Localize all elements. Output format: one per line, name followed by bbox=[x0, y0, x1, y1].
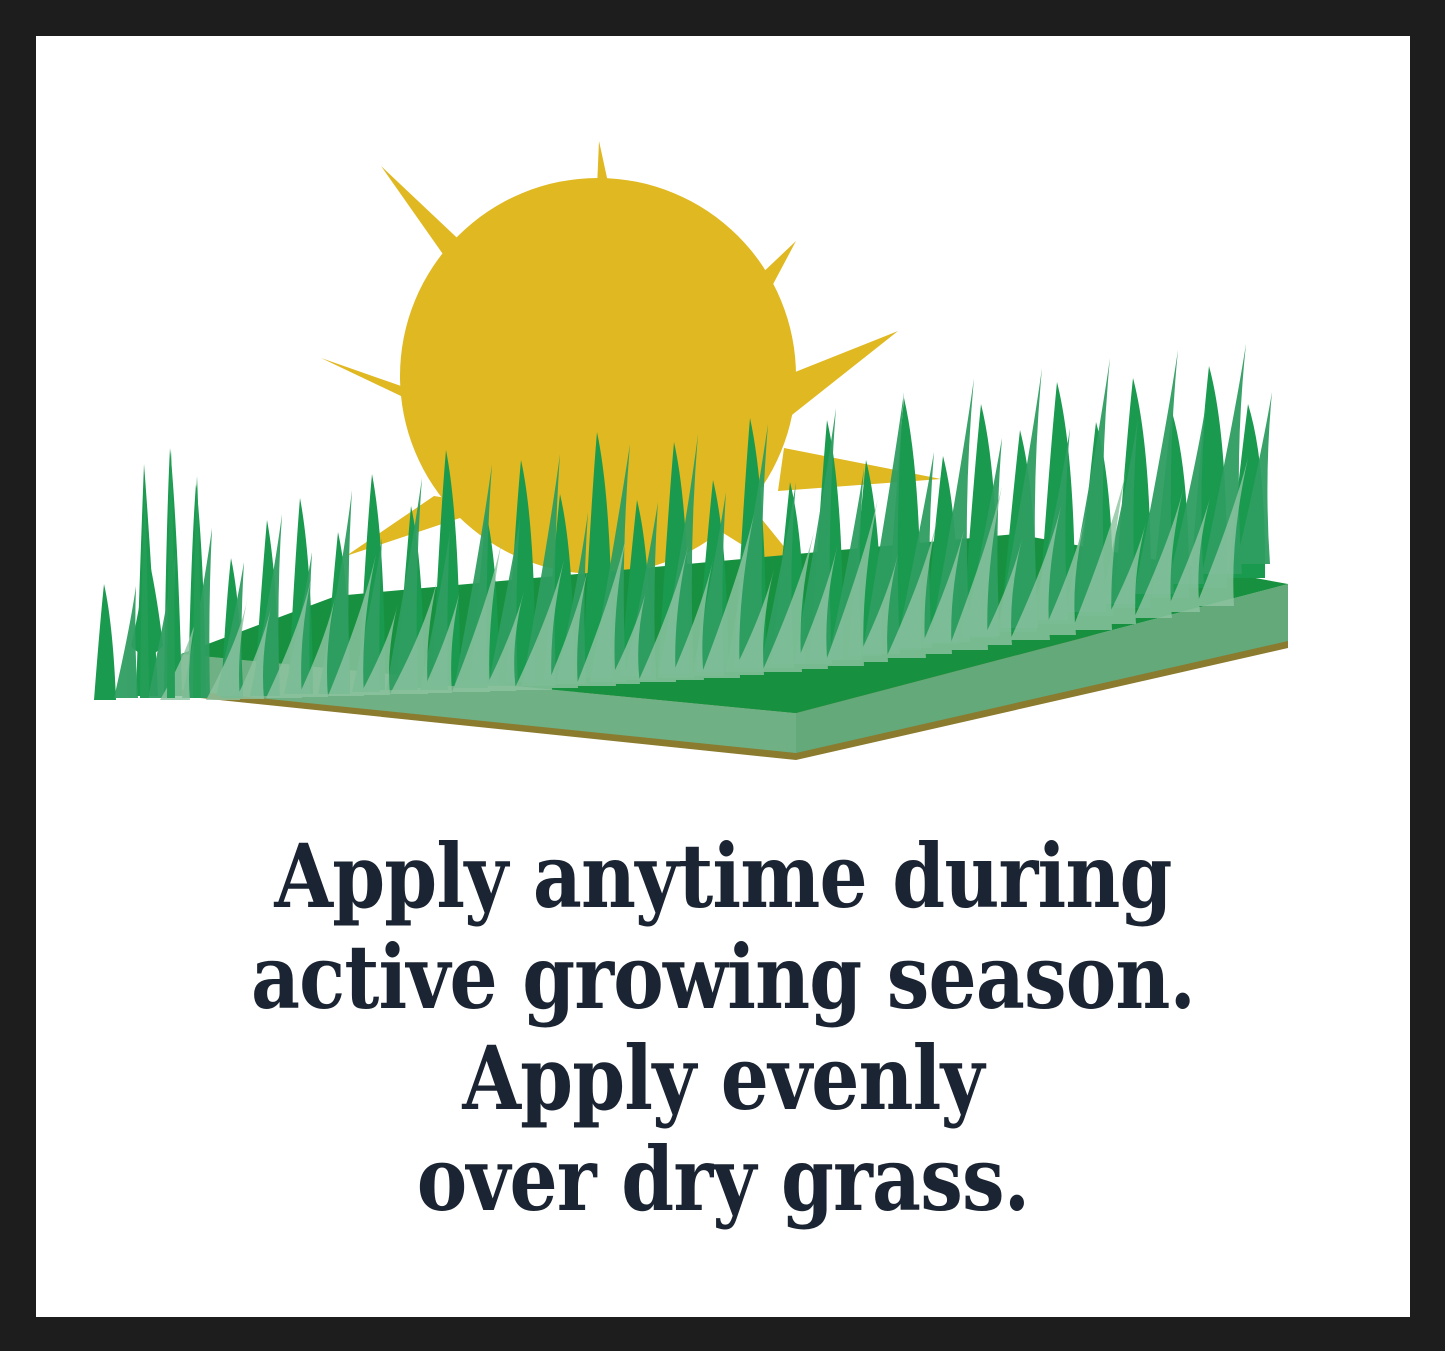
poster-frame: Apply anytime during active growing seas… bbox=[0, 0, 1445, 1351]
poster-content-area: Apply anytime during active growing seas… bbox=[36, 36, 1410, 1317]
caption-line-2: active growing season. bbox=[132, 927, 1314, 1028]
illustration-sun-over-grass bbox=[36, 36, 1410, 796]
illustration-svg bbox=[36, 36, 1410, 796]
caption-line-1: Apply anytime during bbox=[132, 826, 1314, 927]
caption-line-3: Apply evenly bbox=[132, 1028, 1314, 1129]
caption-text-block: Apply anytime during active growing seas… bbox=[36, 826, 1410, 1230]
caption-line-4: over dry grass. bbox=[132, 1129, 1314, 1230]
